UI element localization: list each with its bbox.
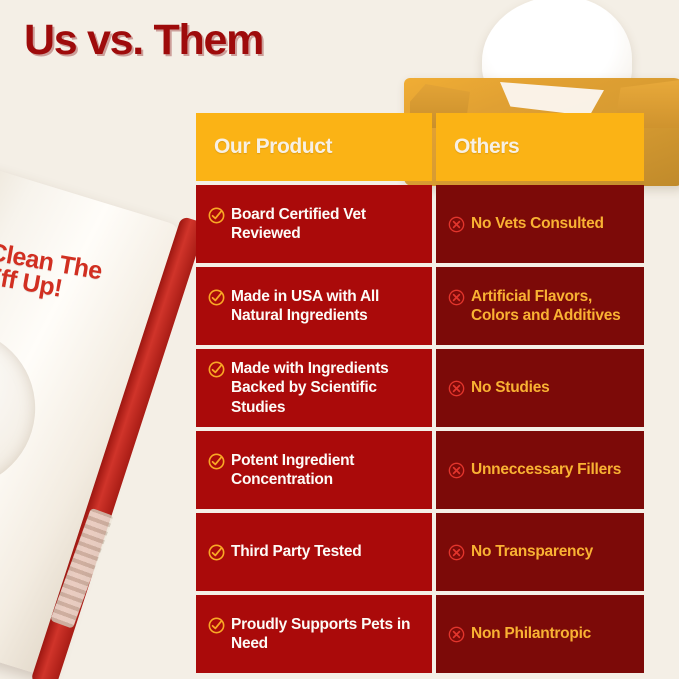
cross-circle-icon [448,380,465,397]
header-cell-others: Others [436,113,644,181]
check-circle-icon [208,617,225,634]
cell-text-our-product: Third Party Tested [231,542,361,561]
cell-text-our-product: Made with Ingredients Backed by Scientif… [231,359,424,417]
table-row: Made with Ingredients Backed by Scientif… [196,349,644,427]
table-row: Proudly Supports Pets in Need Non Philan… [196,595,644,673]
table-header-row: Our Product Others [196,113,644,181]
check-circle-icon [208,207,225,224]
cell-our-product: Proudly Supports Pets in Need [196,595,432,673]
infographic-canvas: Clean The Eff Up! for dirty dogs 20cm x … [0,0,679,679]
cell-text-others: Unneccessary Fillers [471,460,621,479]
cell-text-others: Artificial Flavors, Colors and Additives [471,287,636,325]
cell-others: Non Philantropic [436,595,644,673]
check-circle-icon [208,289,225,306]
product-package-image: Clean The Eff Up! for dirty dogs 20cm x … [0,165,184,676]
cross-circle-icon [448,544,465,561]
cell-others: No Studies [436,349,644,427]
cell-others: No Transparency [436,513,644,591]
check-circle-icon [208,361,225,378]
cell-text-our-product: Made in USA with All Natural Ingredients [231,287,424,325]
table-row: Third Party Tested No Transparency [196,513,644,591]
page-title: Us vs. Them [24,16,263,65]
cell-text-our-product: Proudly Supports Pets in Need [231,615,424,653]
cell-our-product: Board Certified Vet Reviewed [196,185,432,263]
cell-text-our-product: Board Certified Vet Reviewed [231,205,424,243]
cross-circle-icon [448,289,465,306]
check-circle-icon [208,544,225,561]
comparison-table: Our Product Others Board Certified Vet R… [196,113,644,673]
cross-circle-icon [448,462,465,479]
cell-others: Artificial Flavors, Colors and Additives [436,267,644,345]
cell-our-product: Made with Ingredients Backed by Scientif… [196,349,432,427]
table-row: Board Certified Vet Reviewed No Vets Con… [196,185,644,263]
cell-others: Unneccessary Fillers [436,431,644,509]
cross-circle-icon [448,626,465,643]
cell-text-others: No Studies [471,378,549,397]
cell-our-product: Third Party Tested [196,513,432,591]
cell-others: No Vets Consulted [436,185,644,263]
header-label-others: Others [454,135,519,159]
cell-our-product: Potent Ingredient Concentration [196,431,432,509]
cell-text-others: No Transparency [471,542,593,561]
table-row: Potent Ingredient Concentration Unnecces… [196,431,644,509]
cell-text-our-product: Potent Ingredient Concentration [231,451,424,489]
cell-our-product: Made in USA with All Natural Ingredients [196,267,432,345]
table-row: Made in USA with All Natural Ingredients… [196,267,644,345]
header-label-our-product: Our Product [214,135,332,159]
cell-text-others: Non Philantropic [471,624,591,643]
cell-text-others: No Vets Consulted [471,214,604,233]
header-cell-our-product: Our Product [196,113,432,181]
cross-circle-icon [448,216,465,233]
check-circle-icon [208,453,225,470]
